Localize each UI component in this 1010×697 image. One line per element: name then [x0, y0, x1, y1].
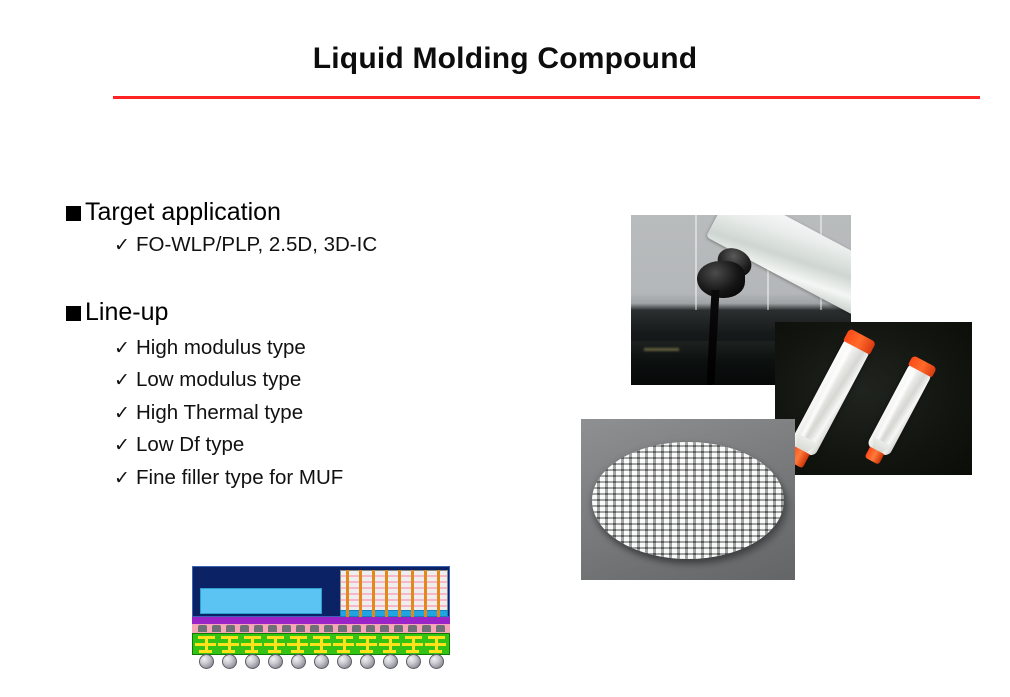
list-item-label: Fine filler type for MUF [136, 468, 343, 489]
solder-ball [222, 654, 237, 669]
background-seam [695, 215, 697, 310]
solder-ball [291, 654, 306, 669]
list-item: ✓ High modulus type [114, 338, 566, 359]
bench-highlight [644, 348, 679, 351]
micro-bump [296, 625, 305, 632]
micro-bump [324, 625, 333, 632]
micro-bump [352, 625, 361, 632]
list-item-label: High modulus type [136, 338, 306, 359]
solder-ball [406, 654, 421, 669]
micro-bump [338, 625, 347, 632]
bullet-group-line-up: Line-up ✓ High modulus type ✓ Low modulu… [66, 298, 566, 489]
solder-ball [337, 654, 352, 669]
interposer-layer [192, 617, 450, 624]
hbm-base-die-layer [340, 610, 448, 617]
slide-body: Target application ✓ FO-WLP/PLP, 2.5D, 3… [66, 198, 566, 510]
list-item: ✓ Low modulus type [114, 370, 566, 391]
check-icon: ✓ [114, 404, 133, 423]
substrate-trace [379, 643, 400, 646]
list-item: ✓ High Thermal type [114, 403, 566, 424]
substrate-trace [245, 650, 258, 653]
logic-die-layer [200, 588, 322, 614]
through-silicon-via [411, 570, 414, 618]
micro-bump [380, 625, 389, 632]
list-item-label: High Thermal type [136, 403, 303, 424]
bullet-heading-line-up: Line-up [66, 298, 566, 326]
micro-bump [394, 625, 403, 632]
solder-ball [383, 654, 398, 669]
through-silicon-via [346, 570, 349, 618]
substrate-trace [241, 643, 262, 646]
micro-bump [408, 625, 417, 632]
micro-bump [436, 625, 445, 632]
check-icon: ✓ [114, 469, 133, 488]
substrate-trace [356, 643, 377, 646]
solder-ball [245, 654, 260, 669]
through-silicon-via [398, 570, 401, 618]
substrate-trace [429, 650, 442, 653]
substrate-trace [268, 650, 281, 653]
micro-bump [254, 625, 263, 632]
micro-bump [268, 625, 277, 632]
substrate-trace [199, 650, 212, 653]
wafer-photo [581, 419, 795, 580]
check-icon: ✓ [114, 371, 133, 390]
syringe-icon [866, 362, 932, 457]
substrate-trace [337, 650, 350, 653]
bullet-group-target-application: Target application ✓ FO-WLP/PLP, 2.5D, 3… [66, 198, 566, 256]
package-cross-section-diagram [192, 566, 454, 666]
syringe-highlight [875, 369, 917, 443]
square-bullet-icon [66, 206, 81, 221]
substrate-trace [287, 643, 308, 646]
micro-bump [366, 625, 375, 632]
substrate-trace [195, 643, 216, 646]
list-item-label: Low modulus type [136, 370, 301, 391]
micro-bump [422, 625, 431, 632]
micro-bump [226, 625, 235, 632]
substrate-trace [406, 650, 419, 653]
list-item-label: Low Df type [136, 435, 244, 456]
substrate-trace [425, 643, 446, 646]
list-item-label: FO-WLP/PLP, 2.5D, 3D-IC [136, 235, 377, 256]
wafer-disc [592, 442, 785, 560]
square-bullet-icon [66, 306, 81, 321]
substrate-trace [314, 650, 327, 653]
through-silicon-via [372, 570, 375, 618]
through-silicon-via [359, 570, 362, 618]
substrate-trace [310, 643, 331, 646]
micro-bump [212, 625, 221, 632]
bullet-heading-label: Line-up [85, 298, 168, 326]
through-silicon-via [424, 570, 427, 618]
through-silicon-via [385, 570, 388, 618]
substrate-trace [291, 650, 304, 653]
solder-ball [268, 654, 283, 669]
substrate-trace [264, 643, 285, 646]
check-icon: ✓ [114, 339, 133, 358]
solder-ball [429, 654, 444, 669]
substrate-trace [360, 650, 373, 653]
check-icon: ✓ [114, 436, 133, 455]
micro-bump [240, 625, 249, 632]
bullet-heading-label: Target application [85, 198, 281, 226]
through-silicon-via [437, 570, 440, 618]
syringe-icon [789, 336, 871, 457]
substrate-trace [333, 643, 354, 646]
micro-bump [198, 625, 207, 632]
micro-bump [310, 625, 319, 632]
substrate-trace [222, 650, 235, 653]
substrate-trace [402, 643, 423, 646]
page-title: Liquid Molding Compound [0, 42, 1010, 76]
solder-ball [199, 654, 214, 669]
list-item: ✓ FO-WLP/PLP, 2.5D, 3D-IC [114, 235, 566, 256]
title-divider-rule [113, 96, 980, 99]
solder-ball [360, 654, 375, 669]
list-item: ✓ Low Df type [114, 435, 566, 456]
syringes-photo [775, 322, 972, 475]
die-array-grid [592, 442, 785, 560]
syringe-highlight [799, 346, 852, 441]
substrate-trace [218, 643, 239, 646]
memory-die-stack-layer [340, 570, 448, 612]
substrate-trace [383, 650, 396, 653]
list-item: ✓ Fine filler type for MUF [114, 468, 566, 489]
resin-blob [697, 261, 745, 298]
bullet-heading-target-application: Target application [66, 198, 566, 226]
check-icon: ✓ [114, 236, 133, 255]
micro-bump [282, 625, 291, 632]
solder-ball [314, 654, 329, 669]
